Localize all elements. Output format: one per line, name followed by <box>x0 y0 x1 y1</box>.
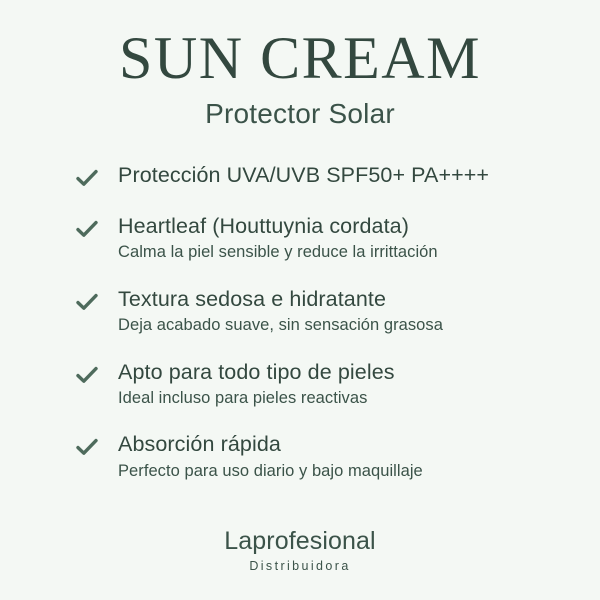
feature-text: Apto para todo tipo de pieles Ideal incl… <box>118 360 574 410</box>
feature-description: Perfecto para uso diario y bajo maquilla… <box>118 461 574 482</box>
product-feature-poster: SUN CREAM Protector Solar Protección UVA… <box>0 0 600 600</box>
brand-name: Laprofesional <box>0 528 600 556</box>
page-title: SUN CREAM <box>0 28 600 89</box>
feature-title: Apto para todo tipo de pieles <box>118 360 574 385</box>
brand-footer: Laprofesional Distribuidora <box>0 528 600 574</box>
list-item: Protección UVA/UVB SPF50+ PA++++ <box>0 163 600 191</box>
list-item: Apto para todo tipo de pieles Ideal incl… <box>0 360 600 410</box>
list-item: Absorción rápida Perfecto para uso diari… <box>0 432 600 482</box>
feature-description: Deja acabado suave, sin sensación grasos… <box>118 315 574 336</box>
list-item: Heartleaf (Houttuynia cordata) Calma la … <box>0 214 600 264</box>
feature-title: Absorción rápida <box>118 432 574 457</box>
check-icon <box>74 216 100 242</box>
page-subtitle: Protector Solar <box>0 98 600 130</box>
check-icon <box>74 165 100 191</box>
feature-text: Absorción rápida Perfecto para uso diari… <box>118 432 574 482</box>
feature-description: Ideal incluso para pieles reactivas <box>118 388 574 409</box>
feature-title: Textura sedosa e hidratante <box>118 287 574 312</box>
check-icon <box>74 434 100 460</box>
list-item: Textura sedosa e hidratante Deja acabado… <box>0 287 600 337</box>
feature-text: Protección UVA/UVB SPF50+ PA++++ <box>118 163 574 188</box>
feature-title: Protección UVA/UVB SPF50+ PA++++ <box>118 163 574 188</box>
feature-text: Heartleaf (Houttuynia cordata) Calma la … <box>118 214 574 264</box>
brand-tagline: Distribuidora <box>0 560 600 574</box>
feature-list: Protección UVA/UVB SPF50+ PA++++ Heartle… <box>0 163 600 482</box>
check-icon <box>74 362 100 388</box>
feature-text: Textura sedosa e hidratante Deja acabado… <box>118 287 574 337</box>
feature-title: Heartleaf (Houttuynia cordata) <box>118 214 574 239</box>
feature-description: Calma la piel sensible y reduce la irrit… <box>118 242 574 263</box>
poster-header: SUN CREAM Protector Solar <box>0 0 600 130</box>
check-icon <box>74 289 100 315</box>
